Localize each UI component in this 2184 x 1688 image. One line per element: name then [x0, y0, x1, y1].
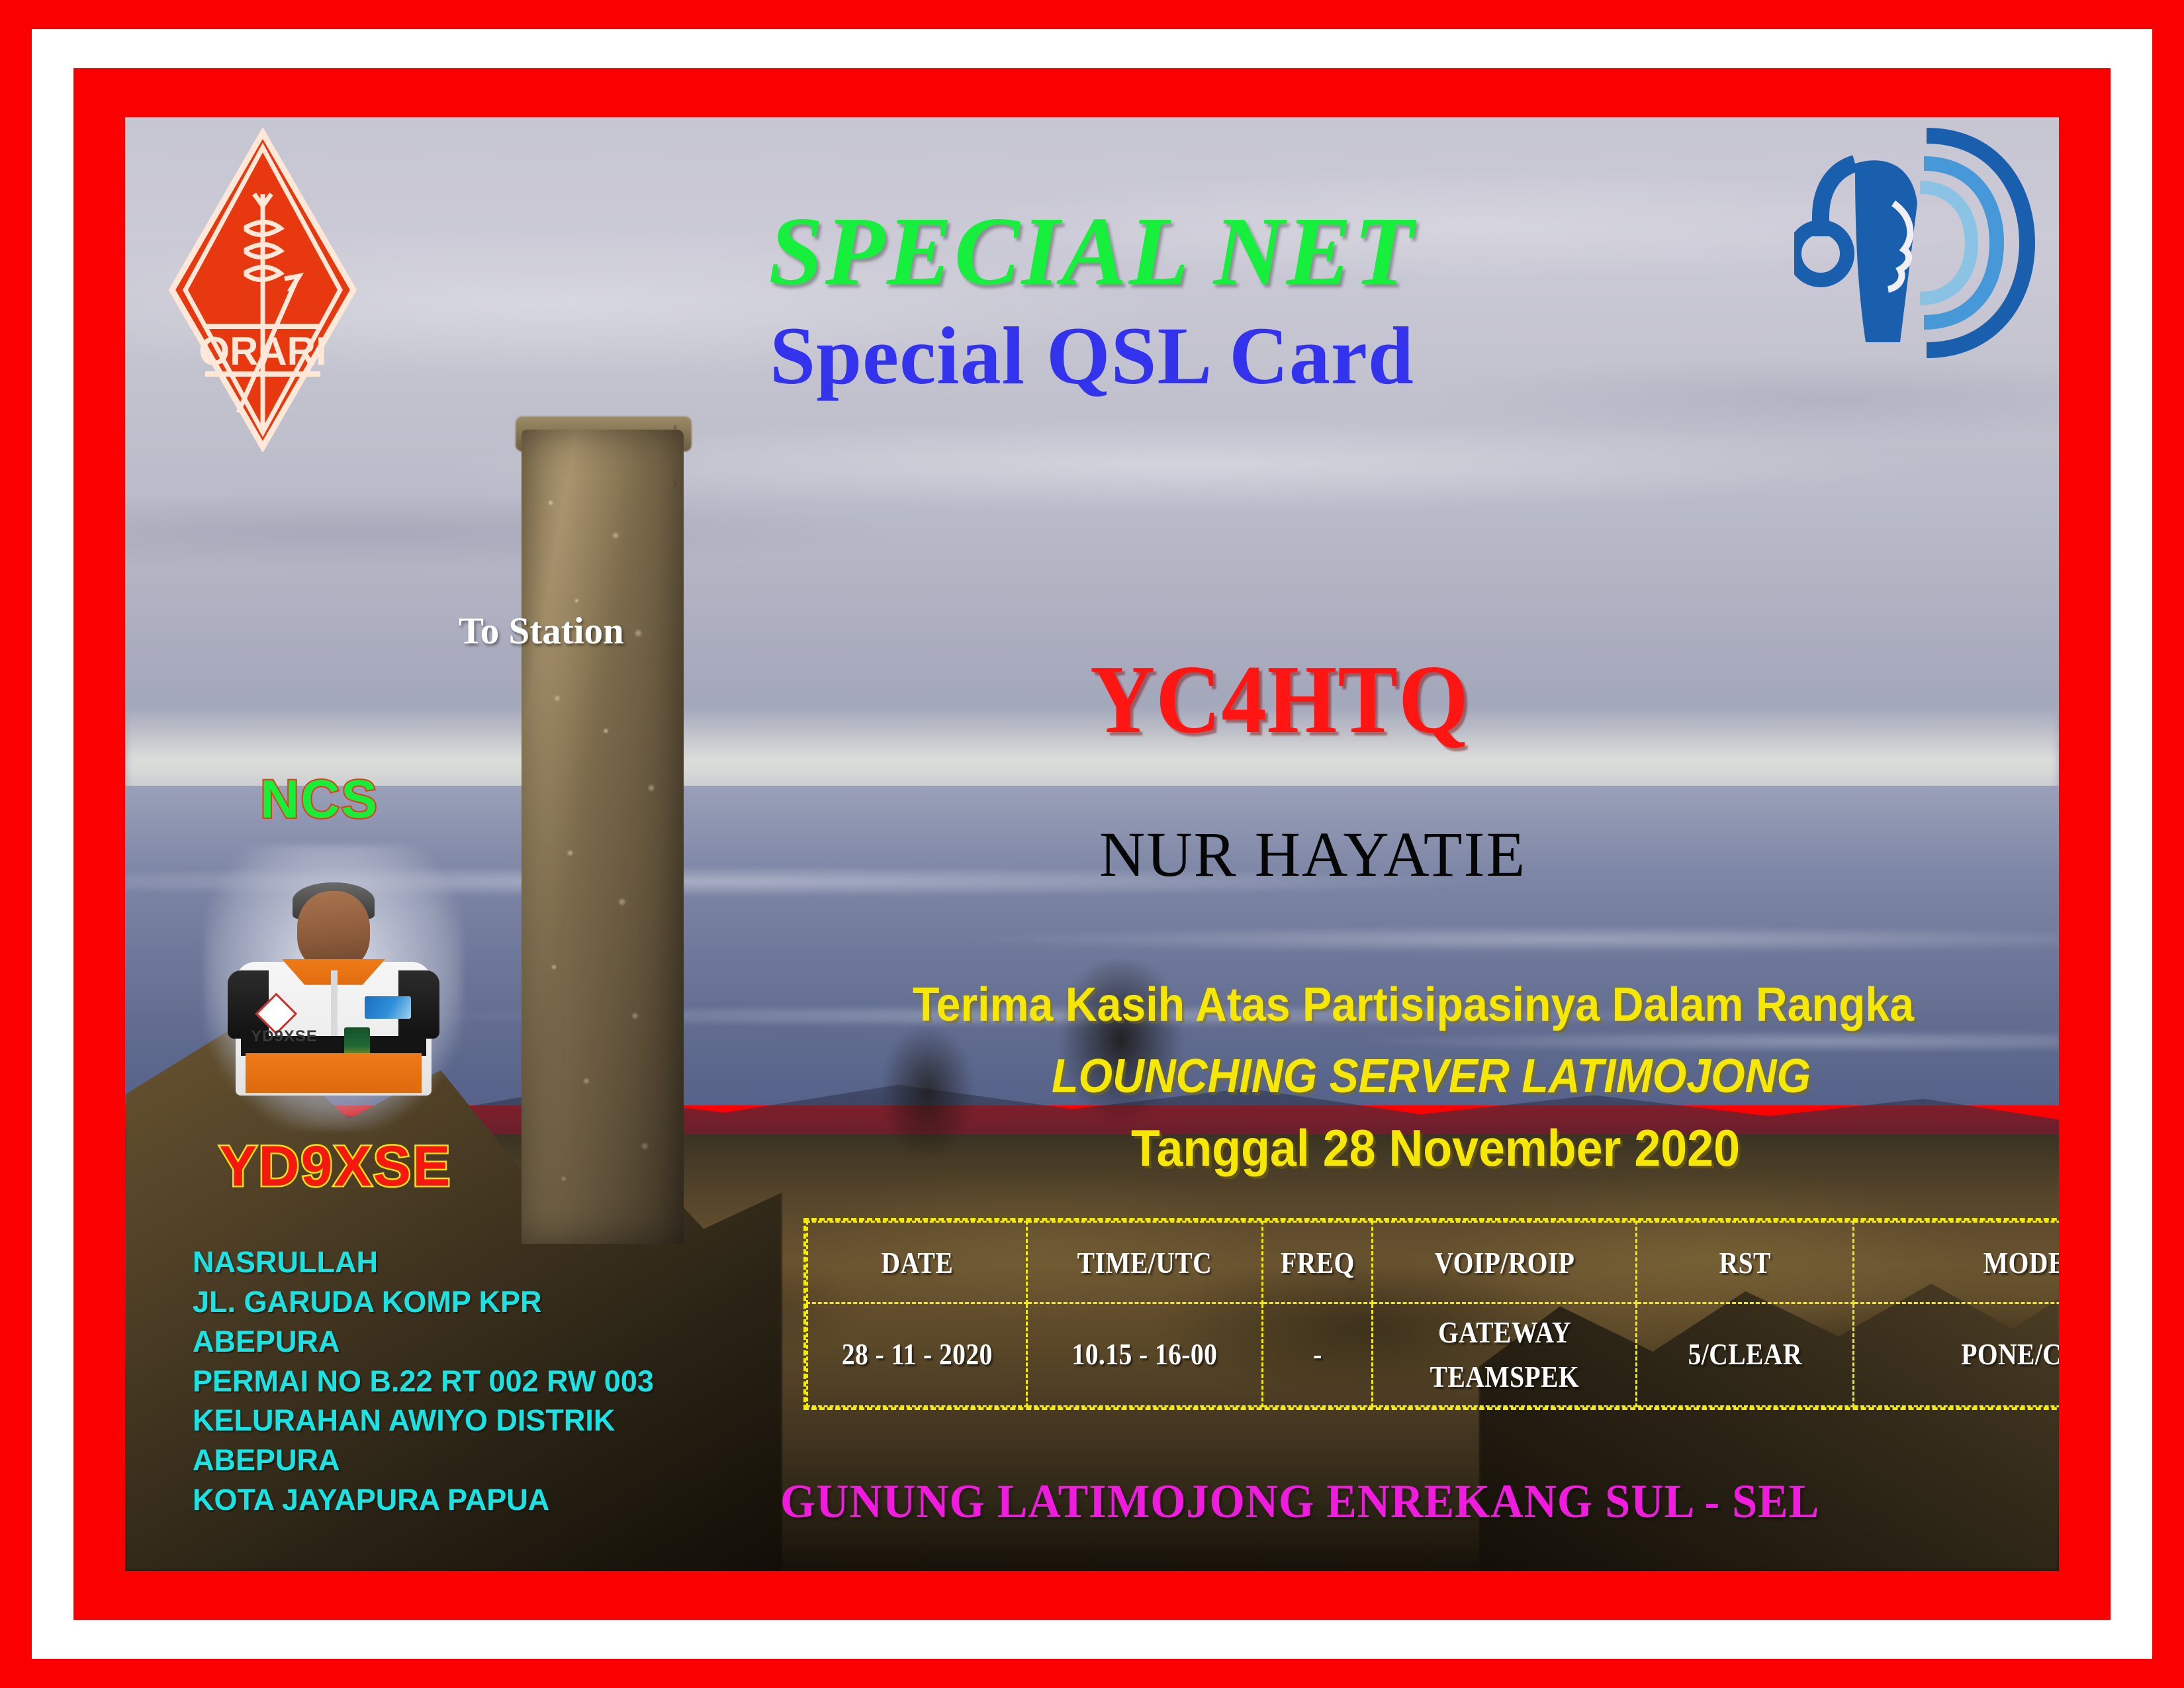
ncs-label: NCS [260, 769, 379, 831]
qso-details-table: DATE TIME/UTC FREQ VOIP/ROIP RST MODE 28… [803, 1218, 2059, 1410]
twig-on-pillar [674, 426, 781, 487]
column-header-mode: MODE [1877, 1222, 2059, 1303]
cell-mode: PONE/CW [1877, 1303, 2059, 1407]
sender-address-block: NASRULLAH JL. GARUDA KOMP KPR ABEPURA PE… [193, 1243, 654, 1520]
table-header-row: DATE TIME/UTC FREQ VOIP/ROIP RST MODE [807, 1222, 2060, 1303]
cell-voip-line2: TEAMSPEK [1392, 1355, 1617, 1399]
operator-name: NUR HAYATIE [1099, 818, 1526, 891]
station-callsign: YC4HTQ [1090, 643, 1469, 756]
table-row: 28 - 11 - 2020 10.15 - 16-00 - GATEWAY T… [807, 1303, 2060, 1407]
portrait-sash [246, 1053, 421, 1093]
column-header-freq: FREQ [1271, 1222, 1365, 1303]
page-subtitle: Special QSL Card [125, 309, 2059, 403]
to-station-label: To Station [459, 610, 624, 653]
cell-time: 10.15 - 16-00 [1043, 1303, 1246, 1407]
card-white-gap: ORARI SPECIAL NET Special QSL Card To St… [32, 29, 2152, 1659]
address-line: KELURAHAN AWIYO DISTRIK [193, 1401, 654, 1440]
shrub-left [860, 1019, 995, 1222]
address-line: PERMAI NO B.22 RT 002 RW 003 [193, 1362, 654, 1401]
column-header-date: DATE [823, 1222, 1011, 1303]
thanks-line: Terima Kasih Atas Partisipasinya Dalam R… [913, 978, 1914, 1032]
cell-voip: GATEWAY TEAMSPEK [1391, 1303, 1618, 1407]
portrait-shirt-placket [331, 970, 338, 1039]
event-date: Tanggal 28 November 2020 [1131, 1118, 1740, 1178]
summit-stone-pillar [522, 430, 684, 1244]
cell-voip-line1: GATEWAY [1392, 1311, 1617, 1355]
card-inner-red-border: ORARI SPECIAL NET Special QSL Card To St… [73, 68, 2111, 1620]
portrait-club-patch [365, 996, 411, 1019]
ncs-operator-photo: YD9XSE [205, 845, 463, 1130]
qsl-card: ORARI SPECIAL NET Special QSL Card To St… [0, 0, 2184, 1688]
column-header-rst: RST [1651, 1222, 1838, 1303]
cell-date: 28 - 11 - 2020 [823, 1303, 1011, 1407]
page-title: SPECIAL NET [125, 195, 2059, 308]
address-line: JL. GARUDA KOMP KPR [193, 1282, 654, 1322]
cell-freq: - [1271, 1303, 1365, 1407]
column-header-voip: VOIP/ROIP [1391, 1222, 1618, 1303]
column-header-time: TIME/UTC [1043, 1222, 1246, 1303]
portrait-head [297, 891, 369, 970]
address-line: KOTA JAYAPURA PAPUA [193, 1480, 654, 1520]
location-line: GUNUNG LATIMOJONG ENREKANG SUL - SEL [780, 1474, 1819, 1529]
card-photo-area: ORARI SPECIAL NET Special QSL Card To St… [125, 117, 2059, 1571]
portrait-shirt-callsign: YD9XSE [251, 1027, 318, 1046]
summit-pillar-texture [522, 430, 684, 1244]
address-line: ABEPURA [193, 1440, 654, 1480]
cell-rst: 5/CLEAR [1651, 1303, 1838, 1407]
event-name: LOUNCHING SERVER LATIMOJONG [1052, 1049, 1811, 1103]
address-line: ABEPURA [193, 1322, 654, 1362]
address-line: NASRULLAH [193, 1243, 654, 1282]
ncs-callsign: YD9XSE [219, 1134, 451, 1199]
